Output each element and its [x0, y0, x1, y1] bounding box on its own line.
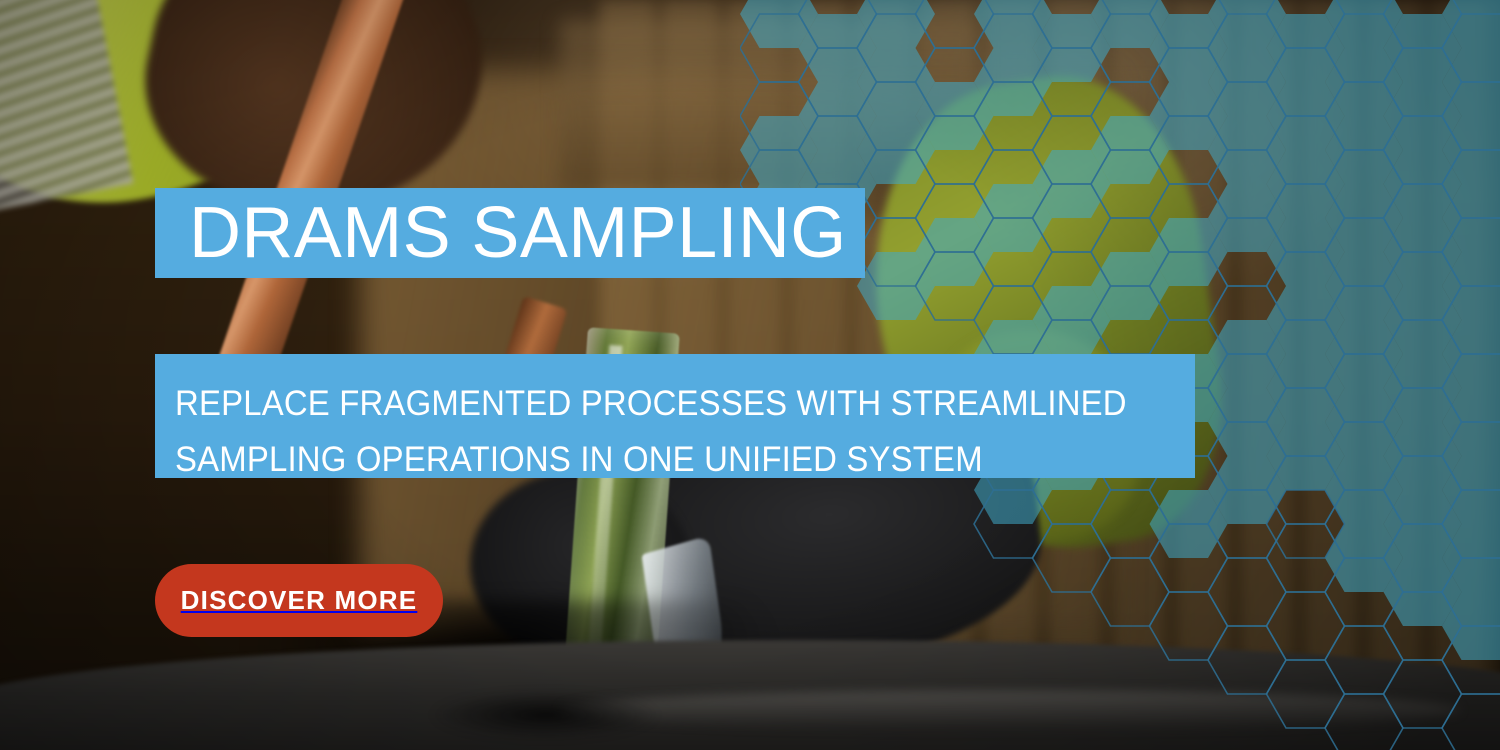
discover-more-button[interactable]: DISCOVER MORE: [155, 564, 443, 637]
subheadline-line-2: SAMPLING OPERATIONS IN ONE UNIFIED SYSTE…: [175, 432, 1134, 488]
subheadline-band: REPLACE FRAGMENTED PROCESSES WITH STREAM…: [155, 354, 1195, 478]
hero-banner: DRAMS SAMPLING REPLACE FRAGMENTED PROCES…: [0, 0, 1500, 750]
page-title: DRAMS SAMPLING: [155, 197, 847, 269]
discover-more-label: DISCOVER MORE: [181, 585, 418, 616]
subheadline-line-1: REPLACE FRAGMENTED PROCESSES WITH STREAM…: [175, 376, 1134, 432]
headline-band: DRAMS SAMPLING: [155, 188, 865, 278]
